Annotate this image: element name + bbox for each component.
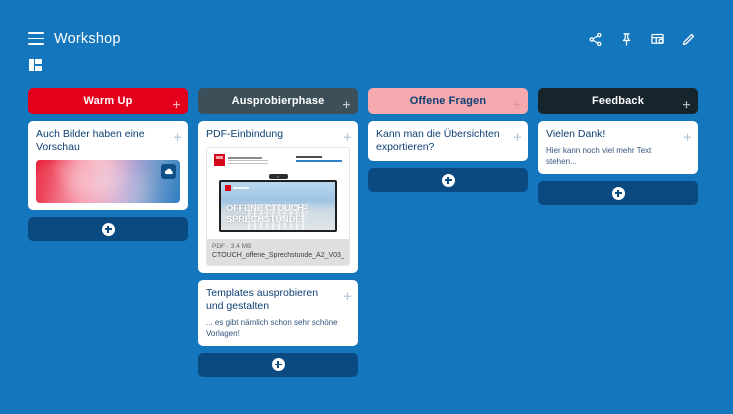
pdf-screen-line-2: SPRECHSTUNDE [226,214,330,225]
add-card-button-feedback[interactable] [538,181,698,205]
camera-icon [269,174,288,179]
share-icon[interactable] [587,31,604,48]
board-view-icon[interactable] [29,59,42,71]
university-logo [214,154,268,166]
card[interactable]: PDF-Einbindung [198,121,358,273]
pdf-file-name: CTOUCH_offene_Sprechstunde_A2_V03_druckf… [212,251,344,261]
column-title: Feedback [592,95,644,107]
edit-pencil-icon[interactable] [680,31,697,48]
card-subtitle: ... es gibt nämlich schon sehr schöne Vo… [206,317,350,339]
move-handle-icon[interactable] [343,288,352,297]
hamburger-menu-icon[interactable] [28,32,44,45]
move-handle-icon[interactable] [172,97,181,106]
column-offene-fragen: Offene Fragen Kann man die Übersichten e… [368,88,528,192]
card-subtitle: Hier kann noch viel mehr Text stehen... [546,145,690,167]
card-title: Templates ausprobieren und gestalten [206,287,350,313]
column-feedback: Feedback Vielen Dank! Hier kann noch vie… [538,88,698,205]
move-handle-icon[interactable] [173,129,182,138]
column-header-warm-up[interactable]: Warm Up [28,88,188,114]
move-handle-icon[interactable] [512,97,521,106]
board-app: Workshop [0,0,733,414]
column-header-offene-fragen[interactable]: Offene Fragen [368,88,528,114]
pdf-file-type-size: PDF · 3.4 MB [212,242,344,251]
card-title: Vielen Dank! [546,128,690,141]
page-title: Workshop [54,31,121,47]
top-bar: Workshop [0,0,733,58]
board-settings-icon[interactable] [649,31,666,48]
plus-icon [272,358,285,371]
pin-icon[interactable] [618,31,635,48]
move-handle-icon[interactable] [683,129,692,138]
card[interactable]: Kann man die Übersichten exportieren? [368,121,528,161]
board-columns: Warm Up Auch Bilder haben eine Vorschau [28,88,718,377]
column-ausprobierphase: Ausprobierphase PDF-Einbindung [198,88,358,377]
column-header-ausprobierphase[interactable]: Ausprobierphase [198,88,358,114]
move-handle-icon[interactable] [343,129,352,138]
column-title: Warm Up [84,95,133,107]
move-handle-icon[interactable] [342,97,351,106]
plus-icon [612,187,625,200]
add-card-button-offene-fragen[interactable] [368,168,528,192]
card[interactable]: Auch Bilder haben eine Vorschau [28,121,188,210]
faculty-label [296,154,342,162]
pdf-screen-line-1: OFFENE CTOUCH- [226,203,330,214]
column-warm-up: Warm Up Auch Bilder haben eine Vorschau [28,88,188,241]
card[interactable]: Vielen Dank! Hier kann noch viel mehr Te… [538,121,698,174]
column-header-feedback[interactable]: Feedback [538,88,698,114]
card-title: Auch Bilder haben eine Vorschau [36,128,180,154]
pdf-monitor-graphic: OFFENE CTOUCH- SPRECHSTUNDE [219,174,337,236]
move-handle-icon[interactable] [682,97,691,106]
column-title: Ausprobierphase [232,95,325,107]
pdf-file-meta: PDF · 3.4 MB CTOUCH_offene_Sprechstunde_… [207,239,349,265]
add-card-button-warm-up[interactable] [28,217,188,241]
card-pdf-attachment[interactable]: OFFENE CTOUCH- SPRECHSTUNDE PDF · 3.4 MB… [206,147,350,266]
move-handle-icon[interactable] [513,129,522,138]
column-title: Offene Fragen [410,95,487,107]
pdf-header-row [214,154,342,172]
card[interactable]: Templates ausprobieren und gestalten ...… [198,280,358,346]
plus-icon [102,223,115,236]
top-actions [587,31,697,48]
card-title: PDF-Einbindung [206,128,350,141]
plus-icon [442,174,455,187]
add-card-button-ausprobierphase[interactable] [198,353,358,377]
card-title: Kann man die Übersichten exportieren? [376,128,520,154]
pdf-preview-page: OFFENE CTOUCH- SPRECHSTUNDE [207,148,349,239]
cloud-icon[interactable] [161,164,176,179]
card-image-attachment[interactable] [36,160,180,203]
